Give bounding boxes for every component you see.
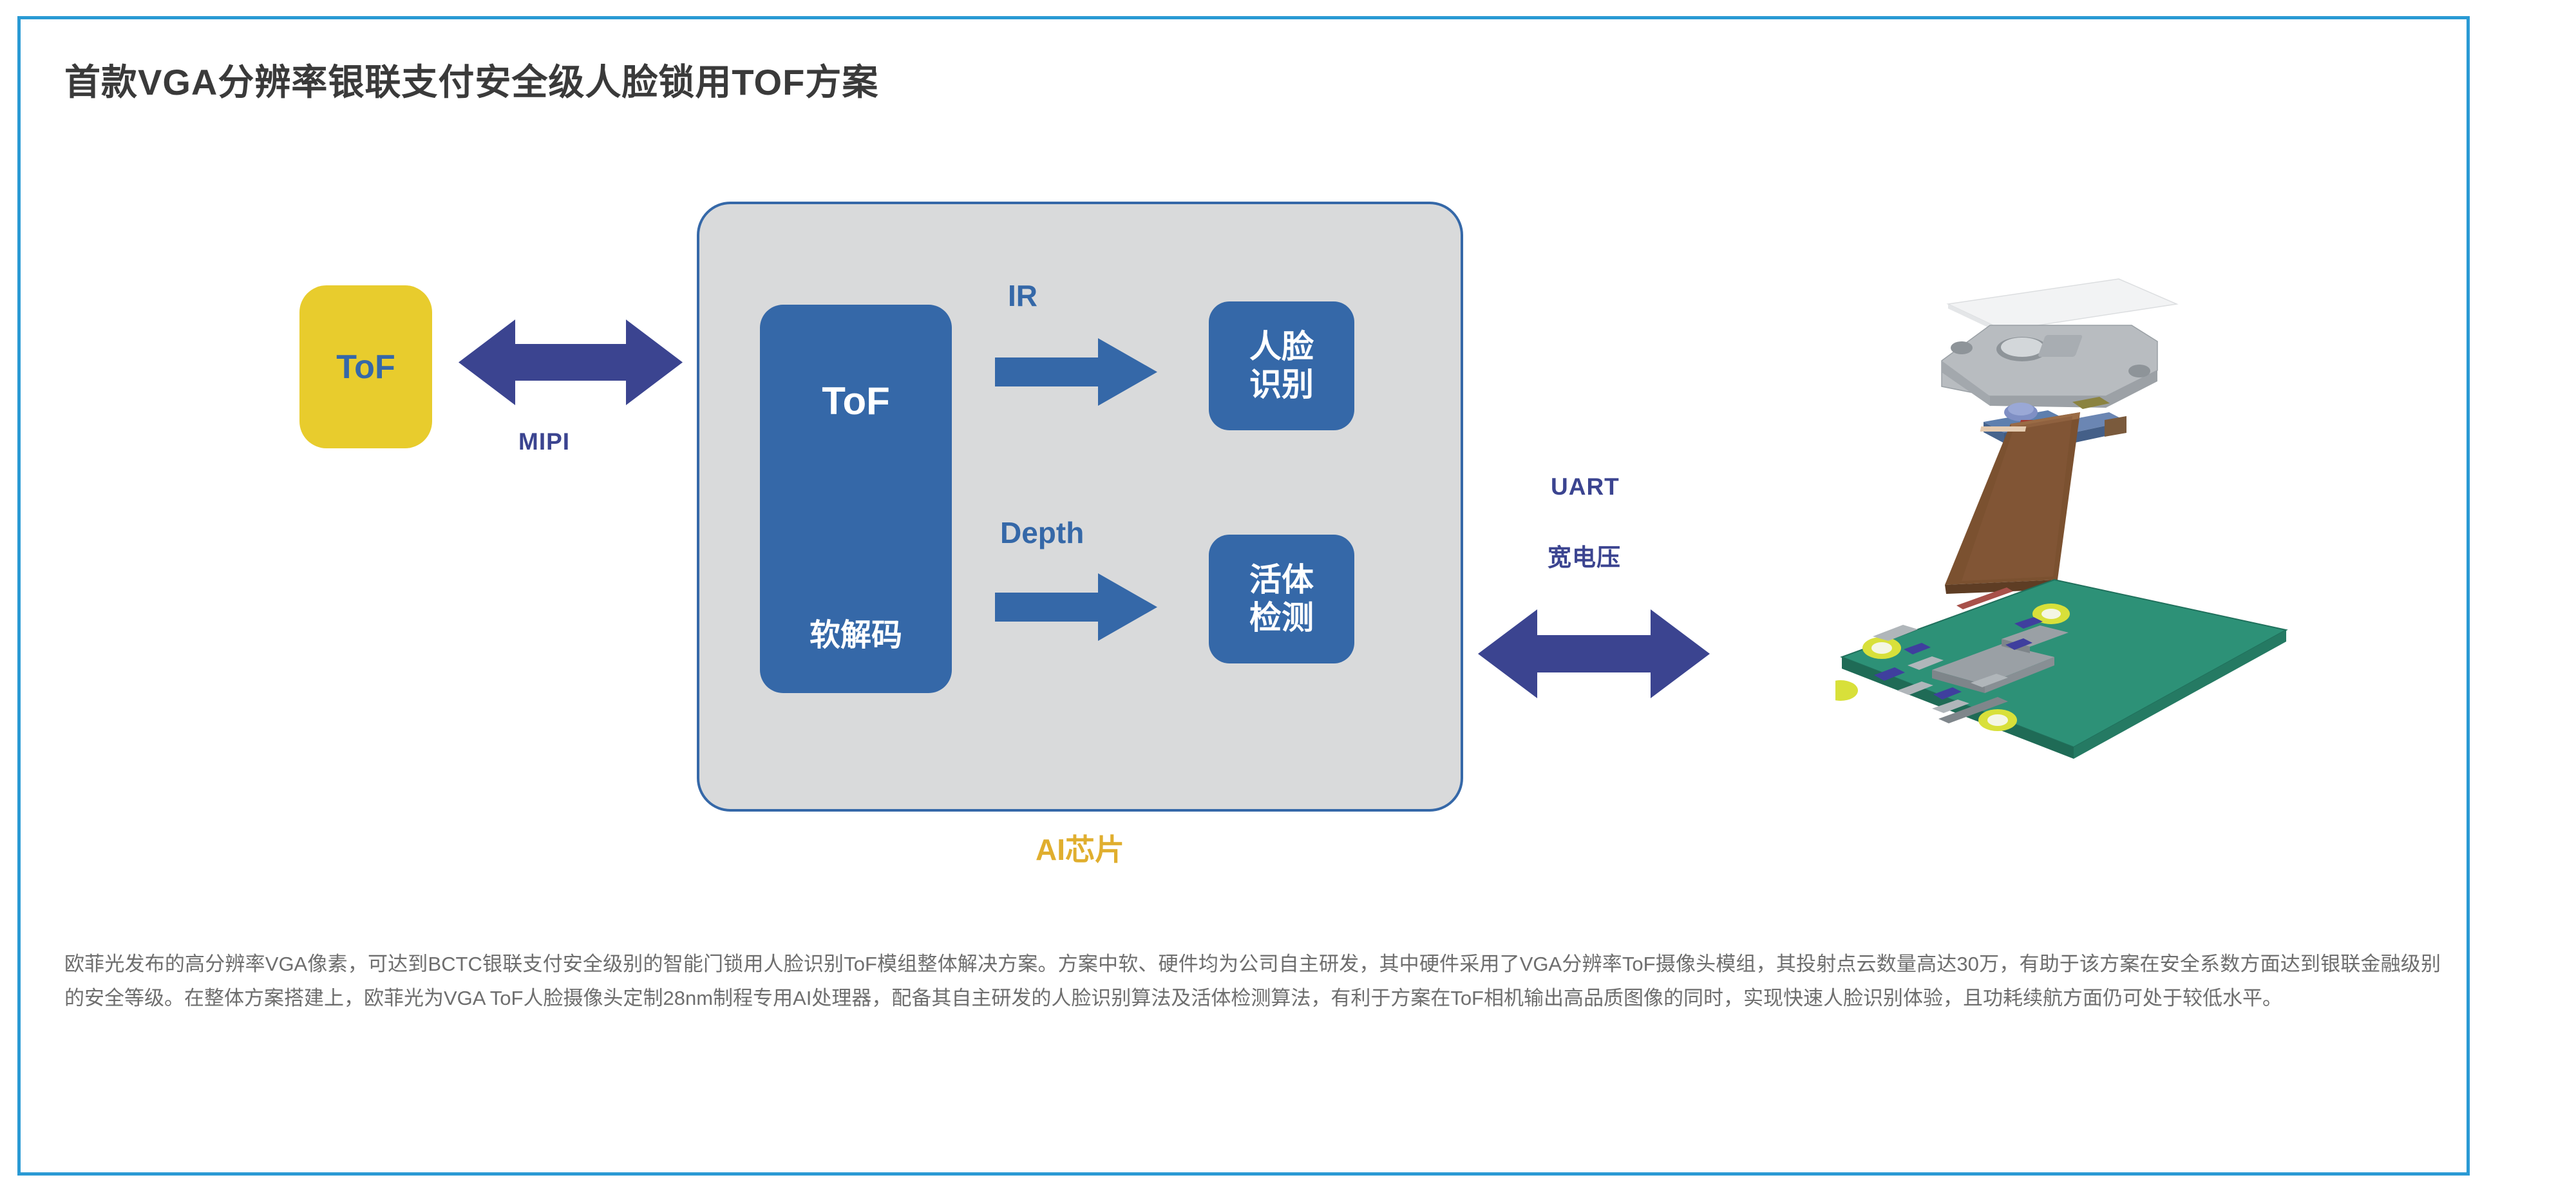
fpc-ribbon-cable	[1945, 412, 2080, 594]
slide-canvas: 首款VGA分辨率银联支付安全级人脸锁用TOF方案 ToF MIPI ToF 软解…	[0, 0, 2576, 1191]
mipi-link-label: MIPI	[518, 428, 570, 455]
tof-camera-module-exploded-render	[1835, 258, 2325, 786]
arrow-right-icon	[995, 338, 1157, 406]
output-live-line1: 活体	[1249, 561, 1314, 599]
tof-core-bottom-label: 软解码	[760, 609, 952, 654]
depth-flow-label: Depth	[1000, 515, 1084, 550]
description-paragraph: 欧菲光发布的高分辨率VGA像素，可达到BCTC银联支付安全级别的智能门锁用人脸识…	[64, 947, 2441, 1016]
double-arrow-horizontal-icon	[1478, 605, 1710, 702]
output-live-line2: 检测	[1249, 599, 1314, 637]
page-title: 首款VGA分辨率银联支付安全级人脸锁用TOF方案	[64, 53, 878, 106]
ai-chip-caption: AI芯片	[697, 826, 1463, 869]
tof-core-block: ToF 软解码	[760, 305, 952, 693]
output-face-line2: 识别	[1249, 366, 1314, 404]
arrow-right-icon	[995, 573, 1157, 641]
tof-core-top-label: ToF	[760, 379, 952, 423]
output-block-face-recognition: 人脸 识别	[1209, 301, 1354, 430]
pcb-main-board	[1835, 580, 2286, 759]
tof-sensor-block: ToF	[299, 285, 432, 448]
double-arrow-horizontal-icon	[459, 316, 683, 409]
output-block-liveness-detection: 活体 检测	[1209, 535, 1354, 663]
tof-sensor-label: ToF	[336, 348, 395, 386]
metal-bracket	[1942, 325, 2157, 408]
uart-link-label: UART	[1551, 473, 1620, 500]
output-face-line1: 人脸	[1249, 328, 1314, 366]
ir-flow-label: IR	[1008, 278, 1037, 313]
wide-voltage-label: 宽电压	[1548, 538, 1621, 573]
